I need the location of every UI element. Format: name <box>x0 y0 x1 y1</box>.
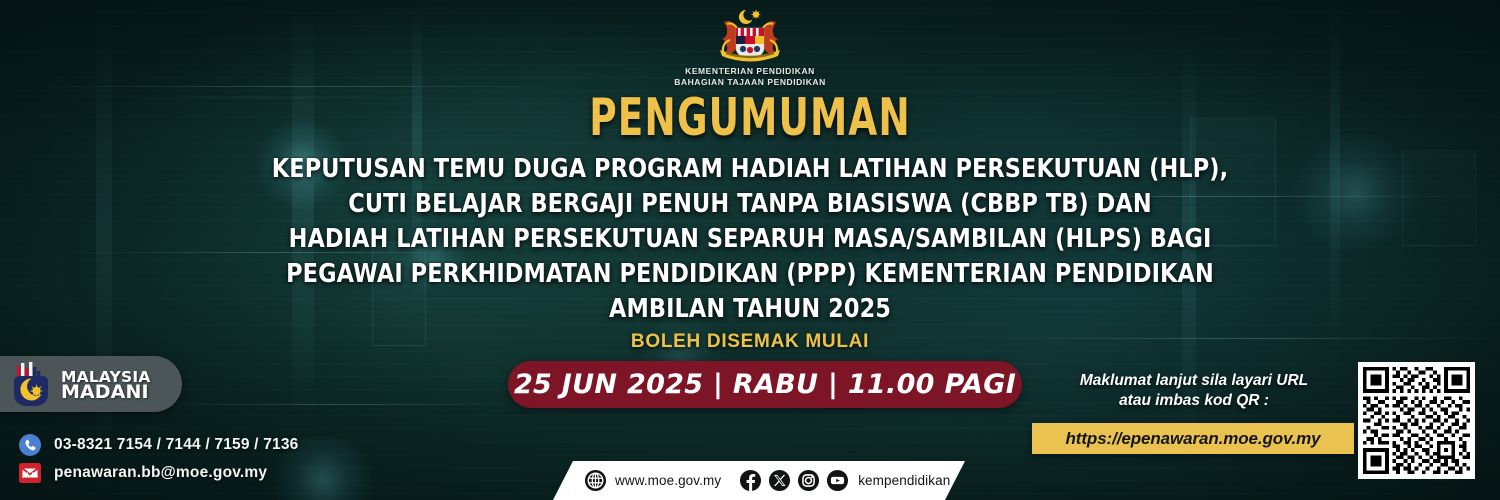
ministry-name: KEMENTERIAN PENDIDIKAN BAHAGIAN TAJAAN P… <box>674 66 826 87</box>
more-info-line-1: Maklumat lanjut sila layari URL <box>1030 371 1358 391</box>
more-info-note: Maklumat lanjut sila layari URL atau imb… <box>1030 371 1358 411</box>
announcement-banner: KEMENTERIAN PENDIDIKAN BAHAGIAN TAJAAN P… <box>0 0 1500 500</box>
phone-icon <box>18 433 42 457</box>
website-url: www.moe.gov.my <box>615 473 721 488</box>
website-link[interactable]: www.moe.gov.my <box>584 469 721 492</box>
email-address: penawaran.bb@moe.gov.my <box>54 464 267 482</box>
phone-number: 03-8321 7154 / 7144 / 7159 / 7136 <box>54 436 298 454</box>
ministry-line-1: KEMENTERIAN PENDIDIKAN <box>674 66 826 77</box>
url-text: https://epenawaran.moe.gov.my <box>1066 429 1321 449</box>
instagram-icon[interactable] <box>797 469 820 492</box>
headline-line-1: KEPUTUSAN TEMU DUGA PROGRAM HADIAH LATIH… <box>196 152 1305 187</box>
malaysia-madani-logo-icon <box>8 362 54 406</box>
headline-line-2: CUTI BELAJAR BERGAJI PENUH TANPA BIASISW… <box>196 187 1305 222</box>
availability-label: BOLEH DISEMAK MULAI <box>0 331 1500 353</box>
x-twitter-icon[interactable] <box>768 469 791 492</box>
qr-code-icon[interactable] <box>1358 362 1475 479</box>
malaysia-madani-badge: MALAYSIA MADANI <box>0 356 182 412</box>
social-handle: kempendidikan <box>858 473 950 488</box>
date-badge: 25 JUN 2025 | RABU | 11.00 PAGI <box>508 361 1022 408</box>
madani-line-2: MADANI <box>61 384 151 400</box>
headline: KEPUTUSAN TEMU DUGA PROGRAM HADIAH LATIH… <box>120 152 1380 327</box>
madani-wordmark: MALAYSIA MADANI <box>61 369 151 400</box>
date-badge-text: 25 JUN 2025 | RABU | 11.00 PAGI <box>514 369 1016 400</box>
page-title: PENGUMUMAN <box>210 92 1290 144</box>
globe-icon <box>584 469 607 492</box>
contact-block: 03-8321 7154 / 7144 / 7159 / 7136 penawa… <box>18 431 298 487</box>
contact-phone-row: 03-8321 7154 / 7144 / 7159 / 7136 <box>18 431 298 459</box>
ministry-line-2: BAHAGIAN TAJAAN PENDIDIKAN <box>674 77 826 88</box>
qr-code-matrix <box>1363 367 1470 474</box>
more-info-line-2: atau imbas kod QR : <box>1030 391 1358 411</box>
headline-line-3: HADIAH LATIHAN PERSEKUTUAN SEPARUH MASA/… <box>196 222 1305 257</box>
facebook-icon[interactable] <box>739 469 762 492</box>
contact-email-row: penawaran.bb@moe.gov.my <box>18 459 298 487</box>
headline-line-5: AMBILAN TAHUN 2025 <box>196 292 1305 327</box>
headline-line-4: PEGAWAI PERKHIDMATAN PENDIDIKAN (PPP) KE… <box>196 257 1305 292</box>
social-icon-group <box>739 469 849 492</box>
social-bar: www.moe.gov.my kempendidik <box>553 461 965 500</box>
mail-icon <box>18 461 42 485</box>
youtube-icon[interactable] <box>826 469 849 492</box>
url-link[interactable]: https://epenawaran.moe.gov.my <box>1032 423 1354 454</box>
malaysia-coat-of-arms-icon <box>702 6 798 64</box>
ministry-crest-block: KEMENTERIAN PENDIDIKAN BAHAGIAN TAJAAN P… <box>0 6 1500 87</box>
